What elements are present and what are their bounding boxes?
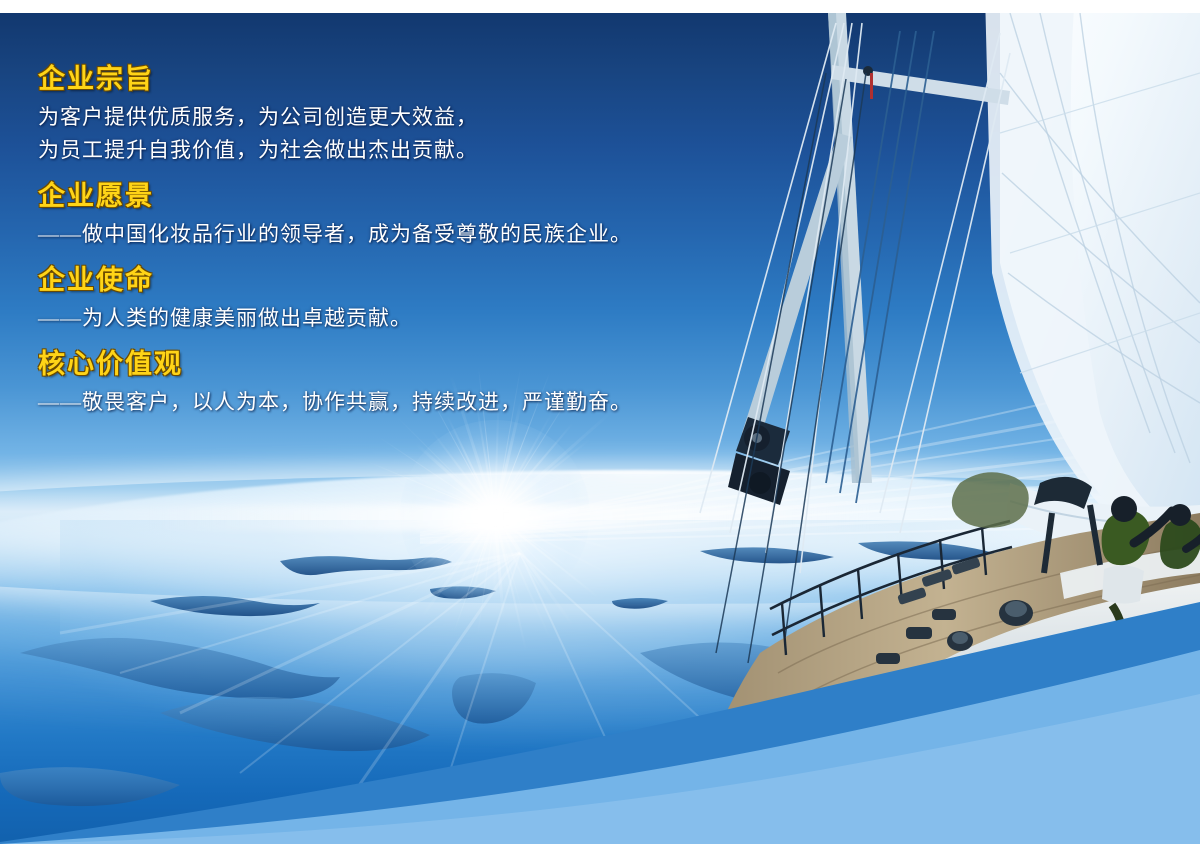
section-line: ——为人类的健康美丽做出卓越贡献。 <box>38 302 738 335</box>
section-line: ——敬畏客户，以人为本，协作共赢，持续改进，严谨勤奋。 <box>38 386 738 419</box>
banner-canvas: 企业宗旨 为客户提供优质服务，为公司创造更大效益， 为员工提升自我价值，为社会做… <box>0 0 1200 844</box>
culture-section-2: 企业使命 ——为人类的健康美丽做出卓越贡献。 <box>38 265 738 335</box>
section-line: 为员工提升自我价值，为社会做出杰出贡献。 <box>38 134 738 167</box>
section-heading: 核心价值观 <box>38 349 738 379</box>
culture-text-block: 企业宗旨 为客户提供优质服务，为公司创造更大效益， 为员工提升自我价值，为社会做… <box>38 64 738 419</box>
culture-section-0: 企业宗旨 为客户提供优质服务，为公司创造更大效益， 为员工提升自我价值，为社会做… <box>38 64 738 167</box>
culture-section-3: 核心价值观 ——敬畏客户，以人为本，协作共赢，持续改进，严谨勤奋。 <box>38 349 738 419</box>
section-heading: 企业使命 <box>38 265 738 295</box>
culture-section-1: 企业愿景 ——做中国化妆品行业的领导者，成为备受尊敬的民族企业。 <box>38 181 738 251</box>
section-heading: 企业宗旨 <box>38 64 738 94</box>
section-line: ——做中国化妆品行业的领导者，成为备受尊敬的民族企业。 <box>38 218 738 251</box>
swoosh-ribbon <box>0 584 1200 844</box>
section-line: 为客户提供优质服务，为公司创造更大效益， <box>38 101 738 134</box>
top-white-strip <box>0 0 1200 13</box>
section-heading: 企业愿景 <box>38 181 738 211</box>
